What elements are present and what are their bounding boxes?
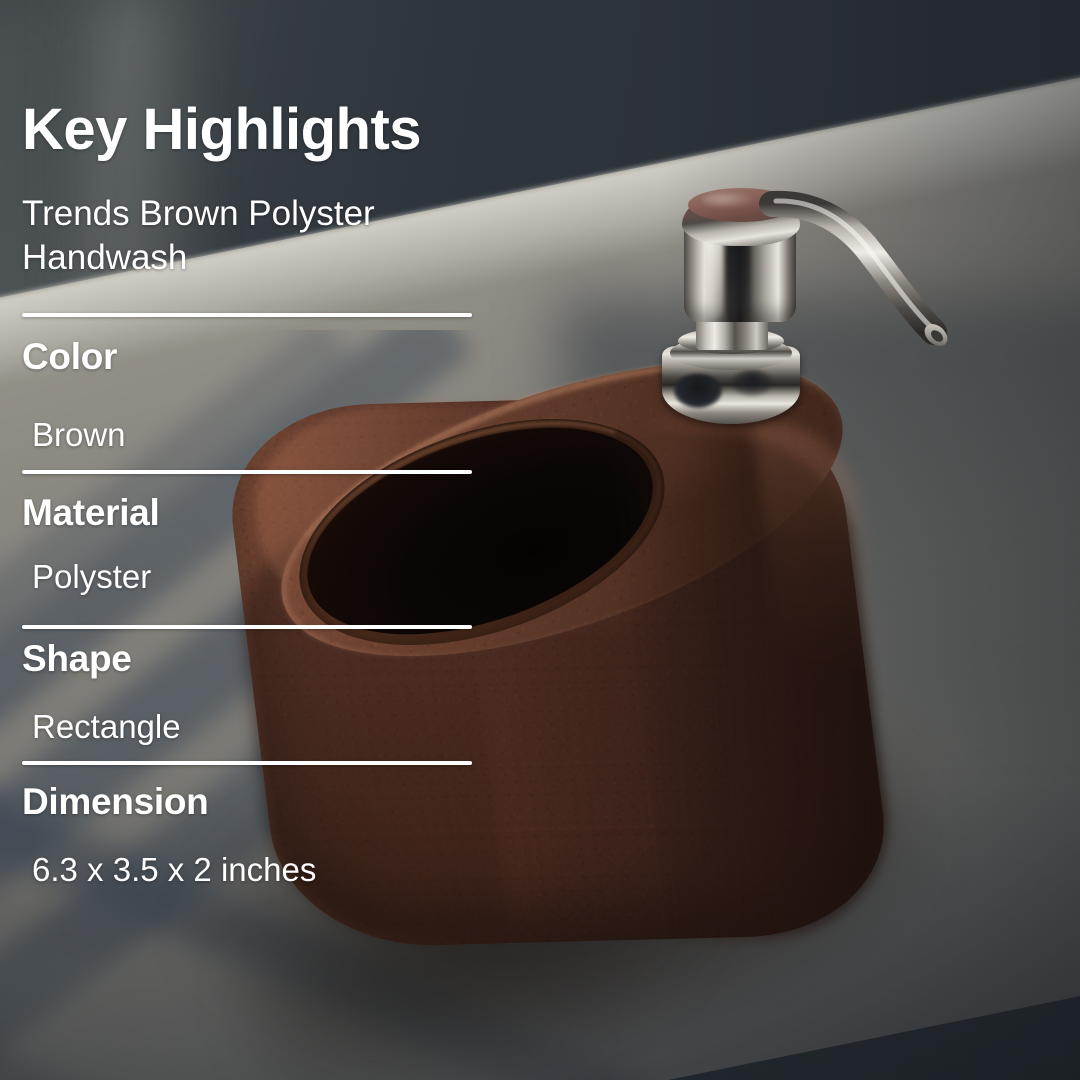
page-title: Key Highlights	[22, 101, 421, 159]
spec-divider	[22, 470, 472, 474]
product-subtitle: Trends Brown Polyster Handwash	[22, 192, 542, 280]
spec-value-shape: Rectangle	[32, 710, 181, 743]
spec-label-dimension: Dimension	[22, 783, 208, 820]
spec-label-material: Material	[22, 494, 159, 531]
spec-label-color: Color	[22, 338, 117, 375]
spec-label-shape: Shape	[22, 640, 132, 677]
spec-divider	[22, 625, 472, 629]
spec-divider	[22, 761, 472, 765]
spec-divider	[22, 313, 472, 317]
text-overlay: Key Highlights Trends Brown Polyster Han…	[0, 0, 1080, 1080]
product-highlight-card: Key Highlights Trends Brown Polyster Han…	[0, 0, 1080, 1080]
spec-value-material: Polyster	[32, 560, 151, 593]
spec-value-color: Brown	[32, 418, 126, 451]
spec-value-dimension: 6.3 x 3.5 x 2 inches	[32, 853, 316, 886]
